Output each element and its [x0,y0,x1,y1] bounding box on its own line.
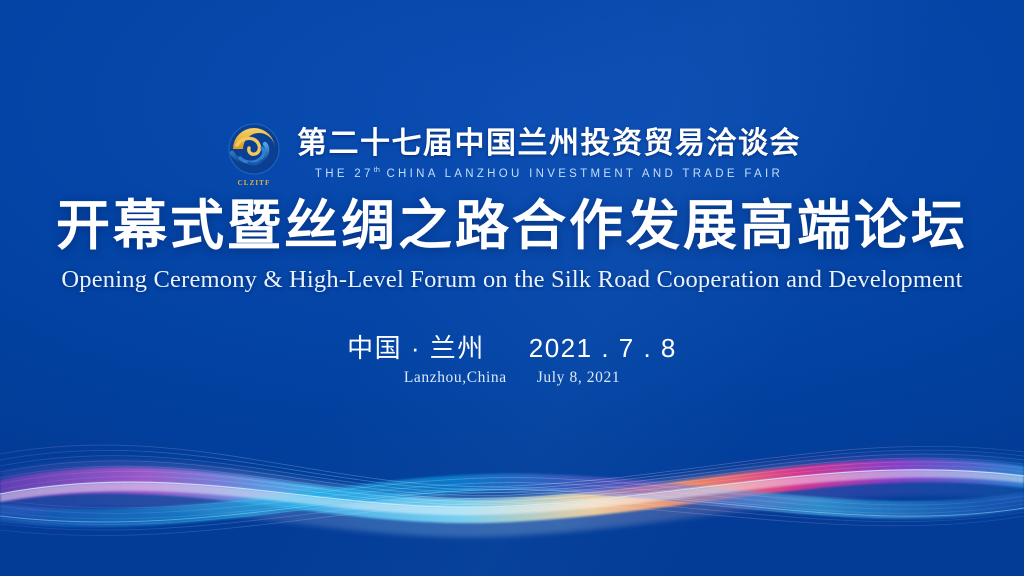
event-date-cn: 2021 . 7 . 8 [529,333,677,364]
event-meta: 中国 · 兰州 2021 . 7 . 8 Lanzhou,China July … [0,328,1024,387]
lanzhou-fair-swirl-icon [223,122,285,178]
fair-header: CLZITF 第二十七届中国兰州投资贸易洽谈会 THE 27th CHINA L… [0,122,1024,186]
ribbon-wave-decoration [0,376,1024,576]
event-location-cn: 中国 · 兰州 [347,328,485,365]
fair-name-en-post: CHINA LANZHOU INVESTMENT AND TRADE FAIR [380,168,783,180]
wave-strands-lower [0,478,1024,536]
fair-name-en: THE 27th CHINA LANZHOU INVESTMENT AND TR… [297,165,801,180]
fair-logo: CLZITF [223,122,285,186]
logo-caption: CLZITF [223,179,285,187]
event-meta-cn: 中国 · 兰州 2021 . 7 . 8 [347,328,677,365]
wave-strands-upper [0,445,1024,505]
event-poster: CLZITF 第二十七届中国兰州投资贸易洽谈会 THE 27th CHINA L… [0,0,1024,576]
fair-name-block: 第二十七届中国兰州投资贸易洽谈会 THE 27th CHINA LANZHOU … [297,128,801,180]
event-date-en: July 8, 2021 [537,369,620,387]
wave-glow-band [0,453,1024,537]
wave-band-main [0,459,1024,523]
wave-core-highlight [0,470,1024,516]
fair-name-en-pre: THE 27 [315,168,374,180]
page-title-en: Opening Ceremony & High-Level Forum on t… [0,266,1024,294]
ribbon-wave-icon [0,376,1024,576]
wave-band-secondary [0,474,1024,527]
fair-name-cn: 第二十七届中国兰州投资贸易洽谈会 [297,128,801,160]
wave-edge-top [0,470,1024,507]
wave-edge-bottom [0,490,1024,522]
event-location-en: Lanzhou,China [404,369,507,387]
event-meta-en: Lanzhou,China July 8, 2021 [404,369,620,387]
page-title-cn: 开幕式暨丝绸之路合作发展高端论坛 [0,198,1024,255]
